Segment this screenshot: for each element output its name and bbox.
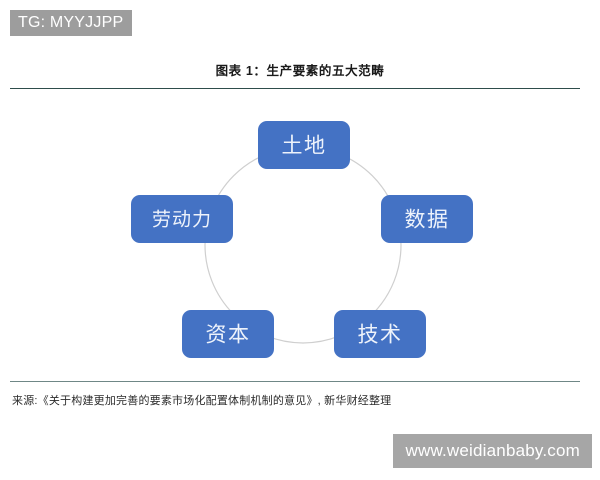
cycle-node-technology-label: 技术 [358,324,403,347]
cycle-node-capital[interactable]: 资本 [182,310,274,358]
cycle-node-data[interactable]: 数据 [381,195,473,243]
site-watermark-label: www.weidianbaby.com [405,441,580,460]
figure-title: 图表 1：生产要素的五大范畴 [0,60,600,79]
source-note: 来源:《关于构建更加完善的要素市场化配置体制机制的意见》, 新华财经整理 [12,392,391,408]
cycle-node-land[interactable]: 土地 [258,121,350,169]
cycle-node-capital-label: 资本 [206,324,251,347]
cycle-node-labor-label: 劳动力 [152,209,212,231]
cycle-node-technology[interactable]: 技术 [334,310,426,358]
site-watermark: www.weidianbaby.com [393,434,592,468]
cycle-node-land-label: 土地 [282,135,327,158]
channel-tag-badge: TG: MYYJJPP [10,10,132,36]
channel-tag-label: TG: MYYJJPP [18,15,123,31]
cycle-node-data-label: 数据 [405,209,450,232]
cycle-node-labor[interactable]: 劳动力 [131,195,233,243]
source-divider-bottom [10,381,580,382]
title-divider-top [10,88,580,89]
cycle-diagram: 土地 数据 技术 资本 劳动力 [0,96,600,376]
